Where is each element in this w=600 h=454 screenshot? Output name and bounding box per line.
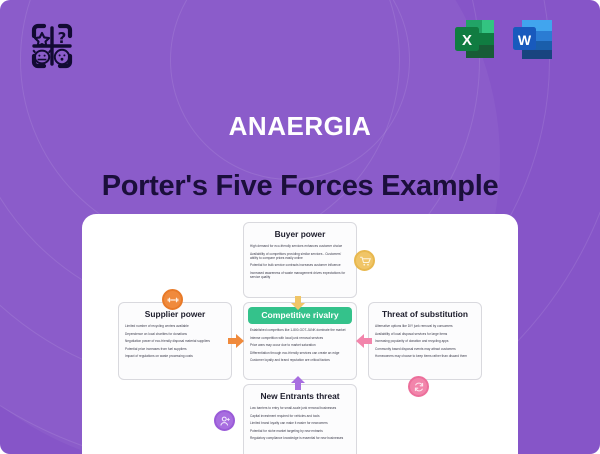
arrow-down-buyer-to-rivalry xyxy=(290,296,306,310)
force-title: Threat of substitution xyxy=(375,308,475,320)
bullet-item: Alternative options like DIY junk remova… xyxy=(375,324,475,332)
force-title: Buyer power xyxy=(250,228,350,240)
force-bullets: Alternative options like DIY junk remova… xyxy=(375,324,475,362)
bullet-item: Availability of competitors providing si… xyxy=(250,252,350,264)
bullet-item: High demand for eco-friendly services en… xyxy=(250,244,350,252)
brand-name: ANAERGIA xyxy=(0,111,600,142)
excel-export-icon[interactable]: X xyxy=(452,16,502,66)
force-title: New Entrants threat xyxy=(250,390,350,402)
bullet-item: Increased awareness of waste management … xyxy=(250,271,350,283)
bullet-item: Increasing popularity of donation and re… xyxy=(375,339,475,347)
force-box-competitive-rivalry[interactable]: Competitive rivalry Established competit… xyxy=(243,302,357,380)
bullet-item: Dependence on local charities for donati… xyxy=(125,332,225,340)
bullet-item: Negotiation power of eco-friendly dispos… xyxy=(125,339,225,347)
force-box-new-entrants-threat[interactable]: New Entrants threat Low barriers to entr… xyxy=(243,384,357,454)
force-bullets: Established competitors like 1-800-GOT-J… xyxy=(250,328,350,366)
arrow-left-substitution-to-rivalry xyxy=(356,334,372,348)
bullet-item: Capital investment required for vehicles… xyxy=(250,414,350,422)
bullet-item: Low barriers to entry for small-scale ju… xyxy=(250,406,350,414)
excel-letter: X xyxy=(462,32,472,49)
add-user-icon xyxy=(214,410,235,431)
force-box-buyer-power[interactable]: Buyer power High demand for eco-friendly… xyxy=(243,222,357,298)
force-bullets: Limited number of recycling centers avai… xyxy=(125,324,225,362)
force-box-threat-of-substitution[interactable]: Threat of substitution Alternative optio… xyxy=(368,302,482,380)
bullet-item: Customer loyalty and brand reputation ar… xyxy=(250,358,350,366)
force-bullets: High demand for eco-friendly services en… xyxy=(250,244,350,283)
force-box-supplier-power[interactable]: Supplier power Limited number of recycli… xyxy=(118,302,232,380)
bullet-item: Potential for bulk service contracts inc… xyxy=(250,263,350,271)
bullet-item: Limited number of recycling centers avai… xyxy=(125,324,225,332)
dumbbell-icon xyxy=(162,289,183,310)
bullet-item: Homeowners may choose to keep items rath… xyxy=(375,354,475,362)
bullet-item: Availability of local disposal services … xyxy=(375,332,475,340)
page-title: Porter's Five Forces Example xyxy=(0,170,600,203)
pet-quiz-logo-icon: ? xyxy=(20,14,84,78)
dog-face-icon xyxy=(55,50,69,64)
diagram-card: Buyer power High demand for eco-friendly… xyxy=(82,214,518,454)
bullet-item: Limited brand loyalty can make it easier… xyxy=(250,421,350,429)
bullet-item: Impact of regulations on waste processin… xyxy=(125,354,225,362)
bullet-item: Differentiation through eco-friendly ser… xyxy=(250,351,350,359)
question-mark-icon: ? xyxy=(58,29,67,47)
bullet-item: Potential for niche market targeting by … xyxy=(250,429,350,437)
bullet-item: Potential price increases from fuel supp… xyxy=(125,347,225,355)
bullet-item: Community based disposal events may attr… xyxy=(375,347,475,355)
bullet-item: Price wars may occur due to market satur… xyxy=(250,343,350,351)
bullet-item: Regulatory compliance knowledge is essen… xyxy=(250,436,350,444)
star-icon xyxy=(35,33,49,46)
word-export-icon[interactable]: W xyxy=(510,16,560,66)
shopping-cart-icon xyxy=(354,250,375,271)
bullet-item: Intense competition with local junk remo… xyxy=(250,336,350,344)
recycle-icon xyxy=(408,376,429,397)
arrow-up-entrants-to-rivalry xyxy=(290,376,306,390)
word-letter: W xyxy=(518,32,532,48)
bullet-item: Established competitors like 1-800-GOT-J… xyxy=(250,328,350,336)
force-bullets: Low barriers to entry for small-scale ju… xyxy=(250,406,350,444)
force-title: Supplier power xyxy=(125,308,225,320)
slide-canvas: ? X xyxy=(0,0,600,454)
arrow-right-supplier-to-rivalry xyxy=(228,334,244,348)
background-arc-5 xyxy=(170,0,410,180)
